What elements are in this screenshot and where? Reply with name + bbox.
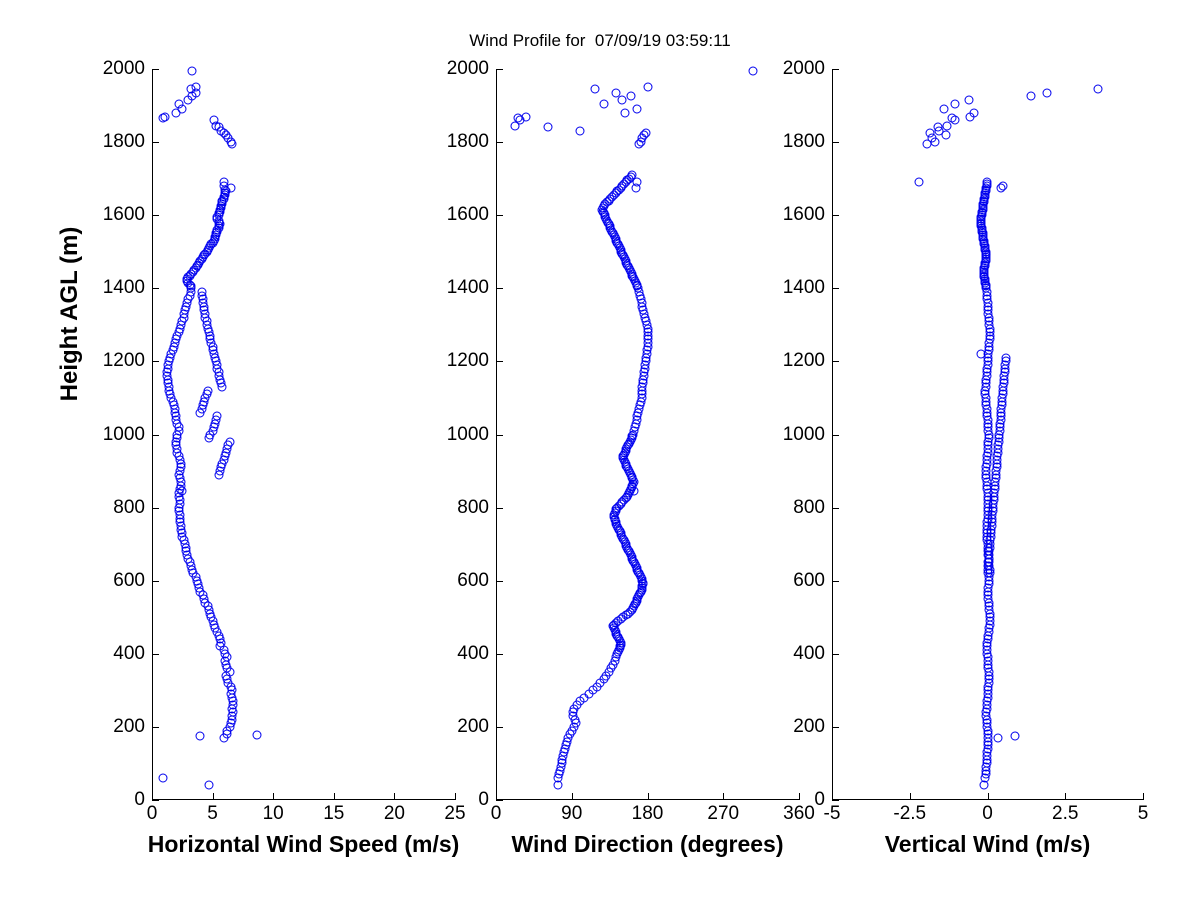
y-tick-mark bbox=[832, 508, 839, 509]
x-tick-label: 5 bbox=[1138, 803, 1149, 825]
x-tick-mark bbox=[988, 793, 989, 800]
data-point-marker bbox=[225, 437, 234, 446]
data-point-marker bbox=[158, 774, 167, 783]
y-tick-mark bbox=[152, 435, 159, 436]
data-point-marker bbox=[620, 108, 629, 117]
data-point-marker bbox=[191, 83, 200, 92]
y-tick-label: 0 bbox=[134, 789, 152, 811]
x-tick-label: -2.5 bbox=[893, 803, 926, 825]
x-tick-label: 20 bbox=[384, 803, 405, 825]
x-axis-label: Wind Direction (degrees) bbox=[512, 831, 784, 858]
y-tick-mark bbox=[832, 800, 839, 801]
y-tick-mark bbox=[496, 361, 503, 362]
data-point-marker bbox=[630, 487, 639, 496]
y-tick-label: 600 bbox=[793, 570, 832, 592]
y-tick-label: 1600 bbox=[103, 204, 152, 226]
y-tick-mark bbox=[152, 581, 159, 582]
wind-profile-figure: Wind Profile for 07/09/19 03:59:11 Heigh… bbox=[0, 0, 1200, 900]
y-tick-label: 600 bbox=[457, 570, 496, 592]
data-point-marker bbox=[1027, 92, 1036, 101]
x-tick-label: 5 bbox=[207, 803, 218, 825]
data-point-marker bbox=[544, 123, 553, 132]
y-tick-label: 800 bbox=[793, 497, 832, 519]
x-tick-label: 90 bbox=[561, 803, 582, 825]
y-tick-label: 400 bbox=[113, 643, 152, 665]
y-tick-mark bbox=[152, 654, 159, 655]
y-tick-label: 2000 bbox=[103, 58, 152, 80]
x-tick-label: 10 bbox=[263, 803, 284, 825]
axes-frame-0 bbox=[152, 69, 455, 800]
y-tick-label: 400 bbox=[457, 643, 496, 665]
data-point-marker bbox=[599, 99, 608, 108]
x-tick-label: 2.5 bbox=[1052, 803, 1078, 825]
data-point-marker bbox=[933, 123, 942, 132]
data-point-marker bbox=[748, 66, 757, 75]
x-axis-label: Horizontal Wind Speed (m/s) bbox=[148, 831, 460, 858]
y-tick-mark bbox=[496, 800, 503, 801]
data-point-marker bbox=[522, 112, 531, 121]
data-point-marker bbox=[1001, 353, 1010, 362]
y-tick-mark bbox=[496, 654, 503, 655]
y-tick-mark bbox=[832, 727, 839, 728]
y-tick-label: 1400 bbox=[783, 277, 832, 299]
y-tick-mark bbox=[496, 288, 503, 289]
x-tick-mark bbox=[213, 793, 214, 800]
data-point-marker bbox=[1042, 88, 1051, 97]
data-point-marker bbox=[633, 178, 642, 187]
data-point-marker bbox=[187, 66, 196, 75]
y-tick-mark bbox=[832, 361, 839, 362]
y-tick-mark bbox=[496, 215, 503, 216]
y-tick-label: 2000 bbox=[447, 58, 496, 80]
x-tick-label: 180 bbox=[632, 803, 664, 825]
y-tick-mark bbox=[152, 142, 159, 143]
y-tick-label: 1200 bbox=[447, 350, 496, 372]
data-point-marker bbox=[644, 83, 653, 92]
x-axis-label: Vertical Wind (m/s) bbox=[885, 831, 1091, 858]
y-tick-mark bbox=[832, 69, 839, 70]
data-point-marker bbox=[591, 85, 600, 94]
y-tick-label: 200 bbox=[113, 716, 152, 738]
y-tick-label: 1800 bbox=[447, 131, 496, 153]
y-tick-label: 400 bbox=[793, 643, 832, 665]
y-tick-label: 1200 bbox=[783, 350, 832, 372]
data-point-marker bbox=[950, 99, 959, 108]
y-tick-label: 1800 bbox=[783, 131, 832, 153]
x-tick-mark bbox=[1143, 793, 1144, 800]
y-tick-mark bbox=[152, 508, 159, 509]
panel-vertical-wind: -5-2.502.5502004006008001000120014001600… bbox=[832, 69, 1143, 800]
x-tick-mark bbox=[152, 793, 153, 800]
data-point-marker bbox=[999, 181, 1008, 190]
x-tick-label: 25 bbox=[444, 803, 465, 825]
y-tick-label: 800 bbox=[113, 497, 152, 519]
y-tick-mark bbox=[832, 215, 839, 216]
data-point-marker bbox=[196, 732, 205, 741]
x-tick-label: 270 bbox=[707, 803, 739, 825]
y-tick-mark bbox=[832, 142, 839, 143]
x-tick-mark bbox=[455, 793, 456, 800]
data-point-marker bbox=[1011, 732, 1020, 741]
panel-wind-direction: 0901802703600200400600800100012001400160… bbox=[496, 69, 799, 800]
y-tick-mark bbox=[496, 727, 503, 728]
x-tick-mark bbox=[832, 793, 833, 800]
y-tick-mark bbox=[496, 508, 503, 509]
x-tick-mark bbox=[273, 793, 274, 800]
y-tick-label: 1200 bbox=[103, 350, 152, 372]
x-tick-mark bbox=[723, 793, 724, 800]
data-point-marker bbox=[983, 178, 992, 187]
y-tick-mark bbox=[496, 69, 503, 70]
y-tick-mark bbox=[496, 435, 503, 436]
data-point-marker bbox=[204, 781, 213, 790]
y-tick-label: 0 bbox=[478, 789, 496, 811]
data-point-marker bbox=[977, 350, 986, 359]
data-point-marker bbox=[947, 114, 956, 123]
y-tick-mark bbox=[832, 654, 839, 655]
y-tick-label: 1800 bbox=[103, 131, 152, 153]
y-tick-label: 1000 bbox=[447, 424, 496, 446]
data-point-marker bbox=[939, 105, 948, 114]
figure-title: Wind Profile for 07/09/19 03:59:11 bbox=[0, 31, 1200, 51]
y-tick-mark bbox=[152, 361, 159, 362]
y-tick-mark bbox=[832, 581, 839, 582]
data-point-marker bbox=[178, 487, 187, 496]
x-tick-mark bbox=[1065, 793, 1066, 800]
y-tick-label: 1000 bbox=[783, 424, 832, 446]
data-point-marker bbox=[969, 108, 978, 117]
x-tick-label: 15 bbox=[323, 803, 344, 825]
data-point-marker bbox=[632, 105, 641, 114]
y-tick-label: 1400 bbox=[103, 277, 152, 299]
y-tick-label: 1600 bbox=[447, 204, 496, 226]
y-axis-label: Height AGL (m) bbox=[56, 114, 84, 514]
y-tick-mark bbox=[152, 215, 159, 216]
data-point-marker bbox=[226, 183, 235, 192]
x-tick-mark bbox=[648, 793, 649, 800]
x-tick-label: 360 bbox=[783, 803, 815, 825]
data-point-marker bbox=[253, 730, 262, 739]
y-tick-mark bbox=[152, 69, 159, 70]
y-tick-mark bbox=[832, 288, 839, 289]
x-tick-mark bbox=[799, 793, 800, 800]
y-tick-label: 2000 bbox=[783, 58, 832, 80]
data-point-marker bbox=[994, 733, 1003, 742]
panel-horizontal-wind-speed: 0510152025020040060080010001200140016001… bbox=[152, 69, 455, 800]
axes-frame-1 bbox=[496, 69, 799, 800]
data-point-marker bbox=[1093, 85, 1102, 94]
data-point-marker bbox=[576, 127, 585, 136]
data-point-marker bbox=[174, 99, 183, 108]
data-point-marker bbox=[612, 88, 621, 97]
data-point-marker bbox=[915, 178, 924, 187]
y-tick-mark bbox=[496, 142, 503, 143]
data-point-marker bbox=[209, 116, 218, 125]
y-tick-mark bbox=[152, 727, 159, 728]
x-tick-mark bbox=[496, 793, 497, 800]
data-point-marker bbox=[197, 287, 206, 296]
x-tick-mark bbox=[910, 793, 911, 800]
x-tick-mark bbox=[394, 793, 395, 800]
y-tick-label: 0 bbox=[814, 789, 832, 811]
data-point-marker bbox=[161, 112, 170, 121]
y-tick-mark bbox=[832, 435, 839, 436]
y-tick-mark bbox=[152, 288, 159, 289]
data-point-marker bbox=[626, 92, 635, 101]
y-tick-label: 200 bbox=[457, 716, 496, 738]
y-tick-mark bbox=[496, 581, 503, 582]
x-tick-label: 0 bbox=[982, 803, 993, 825]
y-tick-label: 1600 bbox=[783, 204, 832, 226]
y-tick-label: 1000 bbox=[103, 424, 152, 446]
y-tick-label: 200 bbox=[793, 716, 832, 738]
data-point-marker bbox=[641, 128, 650, 137]
x-tick-mark bbox=[334, 793, 335, 800]
y-tick-label: 600 bbox=[113, 570, 152, 592]
data-point-marker bbox=[203, 386, 212, 395]
y-tick-label: 800 bbox=[457, 497, 496, 519]
x-tick-mark bbox=[572, 793, 573, 800]
y-tick-label: 1400 bbox=[447, 277, 496, 299]
data-point-marker bbox=[213, 412, 222, 421]
data-point-marker bbox=[964, 96, 973, 105]
y-tick-mark bbox=[152, 800, 159, 801]
